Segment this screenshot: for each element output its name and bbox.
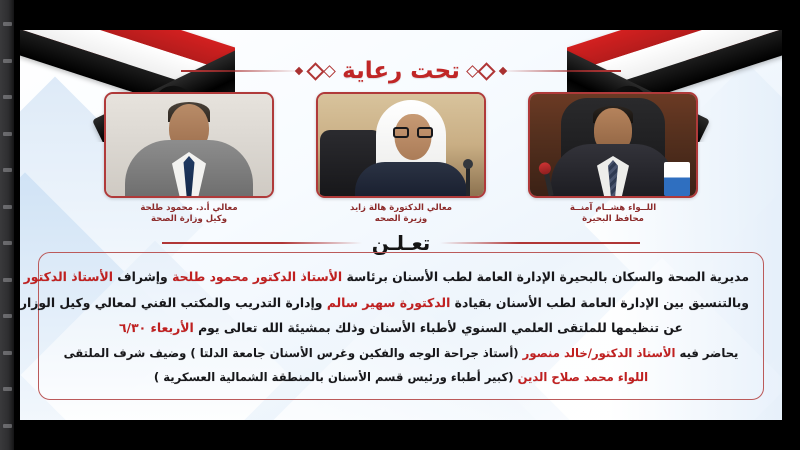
announcement-poster: تحت رعاية: [20, 30, 782, 420]
rail-tick-icon: [3, 59, 12, 63]
portrait-caption: معالي أ.د. محمود طلحة وكيل وزارة الصحة: [140, 203, 237, 226]
plain-text: وإدارة التدريب والمكتب الفني لمعالي وكيل…: [20, 295, 327, 310]
patronage-header: تحت رعاية: [20, 50, 782, 92]
portrait-row: اللــواء هشــام آمنــة محافظ البحيرة: [20, 92, 782, 226]
portrait-role: محافظ البحيرة: [570, 214, 656, 225]
plain-text: وإشراف: [113, 269, 172, 284]
rail-tick-icon: [3, 387, 12, 391]
body-line: يحاضر فيه الأستاذ الدكتور/خالد منصور (أس…: [53, 345, 749, 362]
body-line: مديرية الصحة والسكان بالبحيرة الإدارة ال…: [53, 268, 749, 286]
desk-flag-icon: [664, 162, 690, 196]
plain-text: (أستاذ جراحة الوجه والفكين وغرس الأسنان …: [64, 346, 523, 360]
ornament-line-right: [181, 70, 301, 72]
rail-tick-icon: [3, 168, 12, 172]
photo-hesham-amna: [530, 94, 696, 196]
portrait-card: اللــواء هشــام آمنــة محافظ البحيرة: [528, 92, 698, 226]
portrait-name: معالي أ.د. محمود طلحة: [140, 203, 237, 214]
rail-tick-icon: [3, 424, 12, 428]
portrait-name: اللــواء هشــام آمنــة: [570, 203, 656, 214]
announce-line-right: [162, 242, 362, 244]
rail-tick-icon: [3, 278, 12, 282]
screenshot-root: تحت رعاية: [0, 0, 800, 450]
body-line: اللواء محمد صلاح الدين (كبير أطباء ورئيس…: [53, 369, 749, 386]
photo-frame: [104, 92, 274, 198]
diamond-ornament-icon: [309, 65, 334, 78]
patronage-title: تحت رعاية: [342, 58, 460, 84]
highlighted-text: الأستاذ الدكتور محمود طلحة: [172, 269, 342, 284]
diamond-icon: [466, 65, 479, 78]
announcement-body: مديرية الصحة والسكان بالبحيرة الإدارة ال…: [38, 252, 764, 400]
highlighted-text: الأربعاء ٦/٣٠: [119, 320, 194, 335]
portrait-caption: اللــواء هشــام آمنــة محافظ البحيرة: [570, 203, 656, 226]
viewer-toolbar-rail[interactable]: [0, 0, 14, 450]
highlighted-text: الأستاذ الدكتور حمودة الجزار: [20, 269, 113, 284]
jacket-shape: [355, 162, 467, 196]
photo-frame: [528, 92, 698, 198]
diamond-icon: [477, 62, 495, 80]
ornament-line-left: [501, 70, 621, 72]
rail-tick-icon: [3, 314, 12, 318]
rail-tick-icon: [3, 22, 12, 26]
photo-hala-zayed: [318, 94, 484, 196]
microphone-icon: [466, 166, 470, 196]
plain-text: (كبير أطباء ورئيس قسم الأسنان بالمنطقة ا…: [154, 370, 518, 384]
body-line: وبالتنسيق بين الإدارة العامة لطب الأسنان…: [53, 294, 749, 312]
rail-tick-icon: [3, 95, 12, 99]
plain-text: وبالتنسيق بين الإدارة العامة لطب الأسنان…: [450, 295, 749, 310]
rail-tick-icon: [3, 241, 12, 245]
portrait-card: معالي أ.د. محمود طلحة وكيل وزارة الصحة: [104, 92, 274, 226]
portrait-caption: معالي الدكتورة هالة زايد وزيرة الصحه: [350, 203, 452, 226]
highlighted-text: الأستاذ الدكتور/خالد منصور: [523, 346, 676, 360]
body-line: عن تنظيمها للملتقى العلمي السنوي لأطباء …: [53, 319, 749, 337]
highlighted-text: الدكتورة سهير سالم: [327, 295, 451, 310]
rail-tick-icon: [3, 132, 12, 136]
plain-text: عن تنظيمها للملتقى العلمي السنوي لأطباء …: [194, 320, 683, 335]
glasses-icon: [393, 127, 433, 138]
rail-tick-icon: [3, 205, 12, 209]
plain-text: يحاضر فيه: [676, 346, 739, 360]
plain-text: مديرية الصحة والسكان بالبحيرة الإدارة ال…: [342, 269, 749, 284]
highlighted-text: اللواء محمد صلاح الدين: [518, 370, 649, 384]
announce-line-left: [440, 242, 640, 244]
portrait-role: وزيرة الصحه: [350, 214, 452, 225]
rail-tick-icon: [3, 351, 12, 355]
photo-mahmoud-talha: [106, 94, 272, 196]
photo-frame: [316, 92, 486, 198]
diamond-ornament-icon: [468, 65, 493, 78]
portrait-name: معالي الدكتورة هالة زايد: [350, 203, 452, 214]
portrait-card: معالي الدكتورة هالة زايد وزيرة الصحه: [316, 92, 486, 226]
diamond-icon: [306, 62, 324, 80]
portrait-role: وكيل وزارة الصحة: [140, 214, 237, 225]
